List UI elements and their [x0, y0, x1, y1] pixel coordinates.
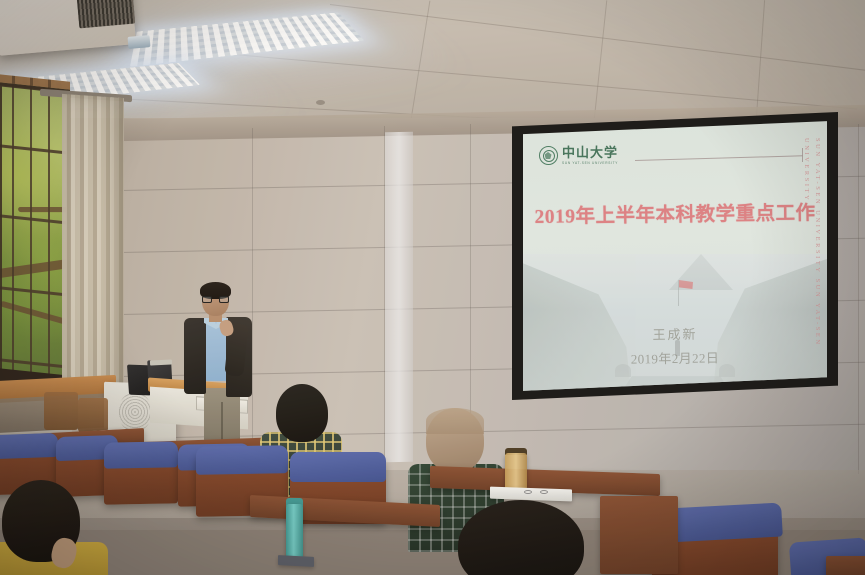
slide-vertical-text: SUN YAT-SEN UNIVERSITY SUN YAT-SEN UNIVE…: [801, 138, 823, 378]
chair-back-left-2: [78, 398, 108, 432]
desk-end-right: [600, 496, 678, 574]
desk-far-right: [826, 556, 865, 575]
attendee-front-left: [0, 488, 122, 575]
university-seal-icon: [539, 146, 558, 165]
smoke-detector: [316, 100, 325, 105]
projection-screen[interactable]: 中山大学 SUN YAT-SEN UNIVERSITY 2019年上半年本科教学…: [523, 120, 827, 392]
slide-title: 2019年上半年本科教学重点工作: [523, 196, 827, 229]
header-rule: [635, 155, 803, 161]
seat-cushion-5: [196, 445, 288, 475]
projector-lens: [128, 35, 151, 49]
projector-vent: [77, 0, 135, 28]
presentation-slide: 中山大学 SUN YAT-SEN UNIVERSITY 2019年上半年本科教学…: [523, 120, 827, 392]
podium-speaker-grille: [118, 392, 152, 432]
university-logo: 中山大学 SUN YAT-SEN UNIVERSITY: [539, 146, 618, 165]
bottle-coaster: [278, 555, 314, 567]
curtain: [62, 94, 124, 398]
university-name-en: SUN YAT-SEN UNIVERSITY: [562, 161, 618, 165]
water-bottle: [286, 504, 303, 560]
window: [0, 82, 70, 390]
eyeglasses-icon: [524, 490, 548, 494]
seat-cushion-3: [104, 441, 178, 468]
seat-cushion-6: [290, 452, 386, 482]
presenter-glasses-icon: [202, 296, 229, 303]
attendee-front-center-head: [458, 500, 584, 575]
lecture-hall-photo: 中山大学 SUN YAT-SEN UNIVERSITY 2019年上半年本科教学…: [0, 0, 865, 575]
chair-back-left: [44, 392, 78, 430]
tea-thermos: [505, 453, 527, 491]
presenter: [178, 284, 258, 444]
attendee-front-center: [448, 500, 598, 575]
presenter-jacket-left: [184, 318, 206, 394]
seat-cushion-1: [0, 433, 58, 459]
university-name-cn: 中山大学: [562, 146, 618, 159]
attendee-center-head: [276, 384, 328, 442]
